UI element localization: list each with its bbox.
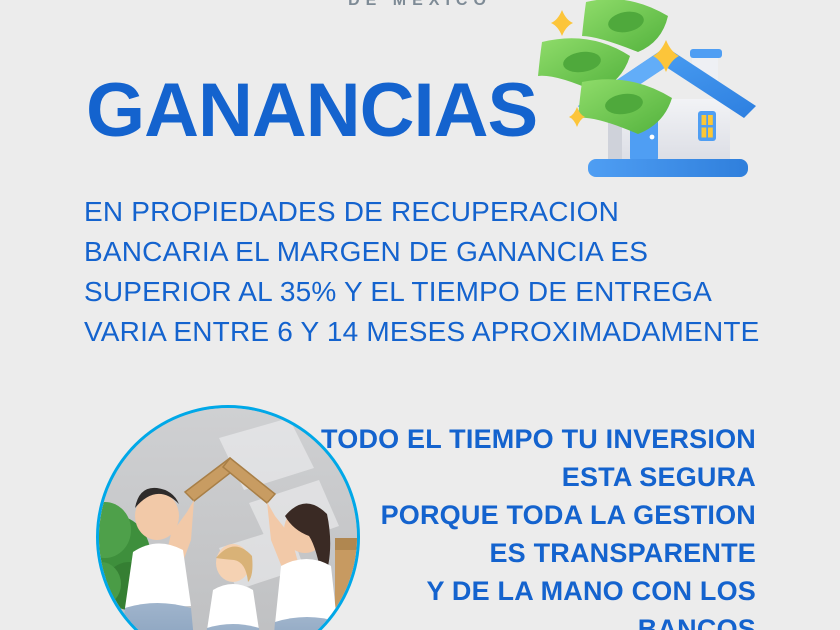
ground-base [588,159,748,177]
poster-canvas: DE MÉXICO GANANCIAS EN PROPIEDADES DE RE… [0,0,840,630]
page-title: GANANCIAS [86,73,537,149]
family-photo-image [99,408,357,630]
paragraph-line: BANCARIA EL MARGEN DE GANANCIA ES [84,232,760,272]
house-with-money-illustration [520,0,820,194]
paragraph-line: VARIA ENTRE 6 Y 14 MESES APROXIMADAMENTE [84,312,760,352]
sparkle-icon [551,10,573,36]
body-paragraph: EN PROPIEDADES DE RECUPERACION BANCARIA … [84,192,760,352]
window [698,111,716,141]
family-photo-illustration [99,408,357,630]
paragraph-line: SUPERIOR AL 35% Y EL TIEMPO DE ENTREGA [84,272,760,312]
paragraph-line: EN PROPIEDADES DE RECUPERACION [84,192,760,232]
house-illustration-svg [520,0,820,194]
